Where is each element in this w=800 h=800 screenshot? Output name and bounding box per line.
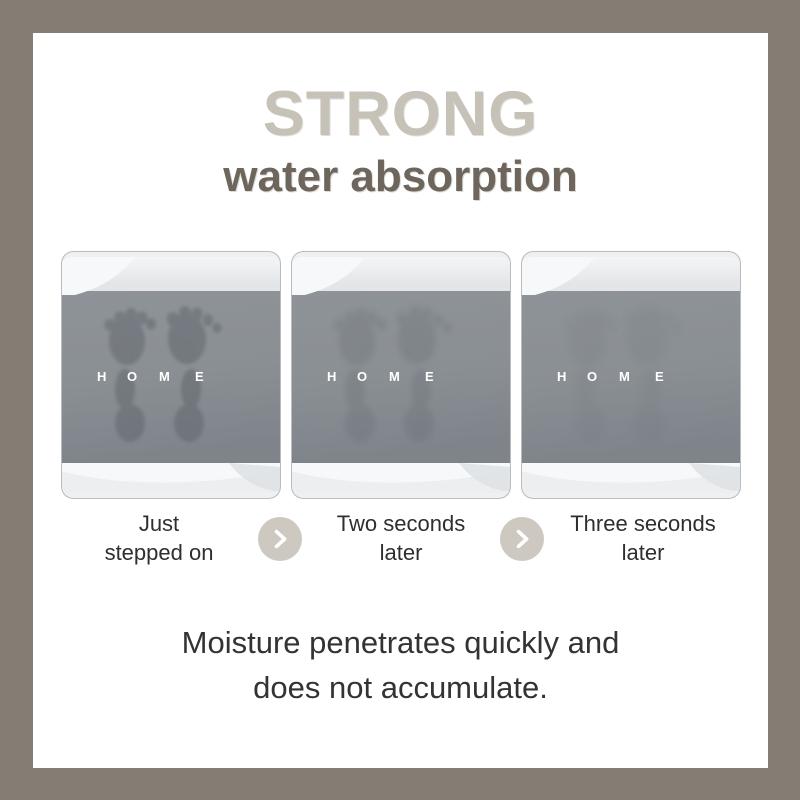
- headline-subtitle: water absorption: [33, 152, 768, 203]
- mat-panel-two-seconds-later: HOME: [291, 251, 511, 499]
- chevron-right-icon: [258, 517, 302, 561]
- chevron-right-icon: [500, 517, 544, 561]
- caption-line-2: later: [545, 538, 741, 567]
- svg-text:E: E: [195, 369, 204, 384]
- mat-image-1: HOME: [61, 251, 281, 499]
- mat-panel-just-stepped-on: HOME: [61, 251, 281, 499]
- footer-line-1: Moisture penetrates quickly and: [33, 621, 768, 666]
- caption-three-seconds-later: Three seconds later: [545, 505, 741, 567]
- svg-text:O: O: [587, 369, 597, 384]
- infographic-canvas: STRONG water absorption: [33, 33, 768, 768]
- svg-text:M: M: [159, 369, 170, 384]
- svg-text:E: E: [655, 369, 664, 384]
- footer-block: Moisture penetrates quickly and does not…: [33, 621, 768, 711]
- svg-text:H: H: [557, 369, 566, 384]
- caption-line-1: Just: [61, 509, 257, 538]
- caption-just-stepped-on: Just stepped on: [61, 505, 257, 567]
- caption-line-1: Three seconds: [545, 509, 741, 538]
- svg-text:O: O: [357, 369, 367, 384]
- product-infographic: STRONG water absorption: [0, 0, 800, 800]
- footer-line-2: does not accumulate.: [33, 666, 768, 711]
- mat-image-2: HOME: [291, 251, 511, 499]
- svg-text:M: M: [619, 369, 630, 384]
- caption-row: Just stepped on Two seconds later Three …: [61, 505, 741, 577]
- caption-line-2: stepped on: [61, 538, 257, 567]
- headline-block: STRONG water absorption: [33, 83, 768, 203]
- caption-two-seconds-later: Two seconds later: [303, 505, 499, 567]
- mat-image-3: HOME: [521, 251, 741, 499]
- mat-panel-three-seconds-later: HOME: [521, 251, 741, 499]
- svg-text:M: M: [389, 369, 400, 384]
- headline-strong: STRONG: [33, 83, 768, 146]
- svg-text:H: H: [327, 369, 336, 384]
- svg-text:E: E: [425, 369, 434, 384]
- caption-line-2: later: [303, 538, 499, 567]
- svg-text:O: O: [127, 369, 137, 384]
- svg-text:H: H: [97, 369, 106, 384]
- caption-line-1: Two seconds: [303, 509, 499, 538]
- mat-panels-row: HOME: [61, 251, 741, 499]
